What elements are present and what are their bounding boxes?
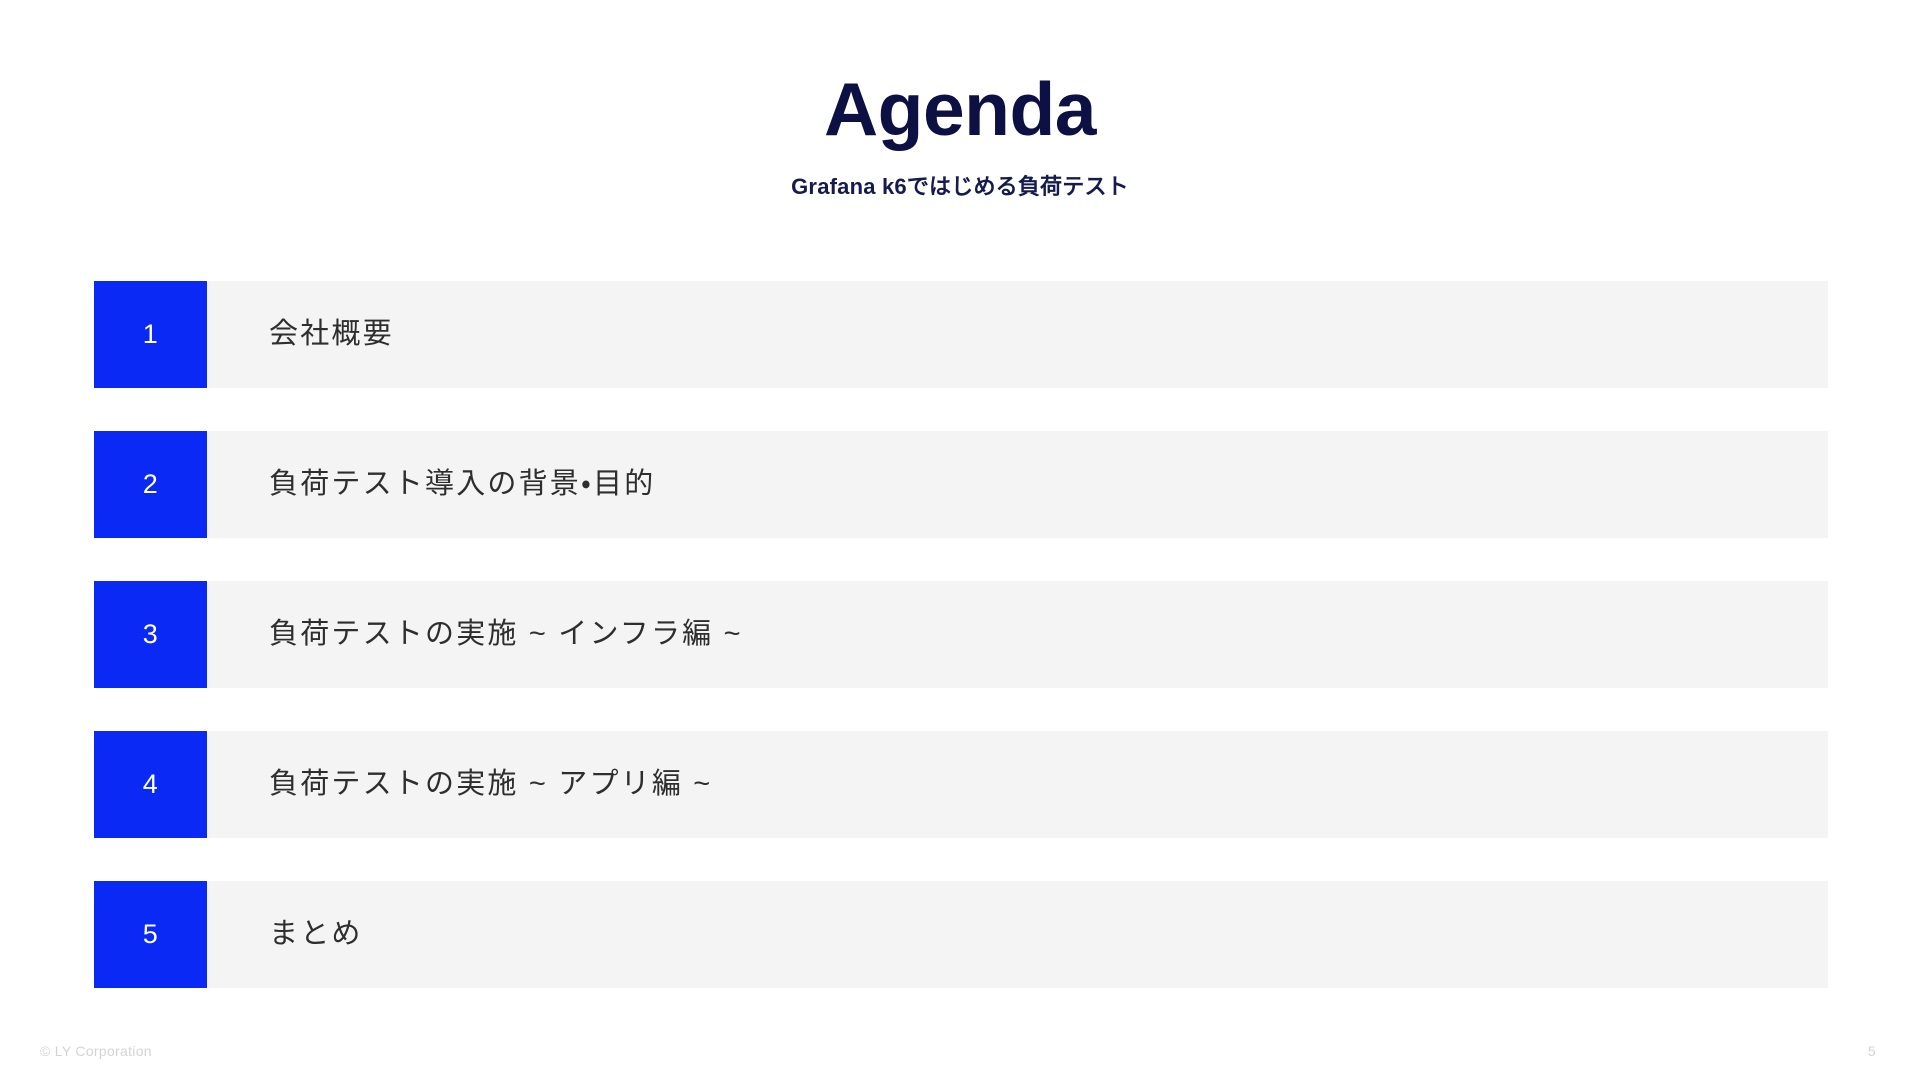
page-subtitle: Grafana k6ではじめる負荷テスト (0, 147, 1920, 200)
agenda-number-badge: 5 (94, 881, 207, 988)
agenda-item-5[interactable]: 5 まとめ (94, 881, 1828, 988)
agenda-item-4[interactable]: 4 負荷テストの実施 ~ アプリ編 ~ (94, 731, 1828, 838)
agenda-number-badge: 3 (94, 581, 207, 688)
agenda-item-1[interactable]: 1 会社概要 (94, 281, 1828, 388)
agenda-list: 1 会社概要 2 負荷テスト導入の背景・目的 3 負荷テストの実施 ~ インフラ… (94, 281, 1828, 988)
page-title: Agenda (0, 0, 1920, 147)
page-number: 5 (1868, 1044, 1876, 1058)
agenda-item-label: 会社概要 (207, 281, 1828, 388)
agenda-item-label: まとめ (207, 881, 1828, 988)
agenda-item-3[interactable]: 3 負荷テストの実施 ~ インフラ編 ~ (94, 581, 1828, 688)
agenda-item-label: 負荷テストの実施 ~ アプリ編 ~ (207, 731, 1828, 838)
copyright-notice: © LY Corporation (40, 1044, 152, 1058)
agenda-item-label: 負荷テスト導入の背景・目的 (207, 431, 1828, 538)
agenda-item-2[interactable]: 2 負荷テスト導入の背景・目的 (94, 431, 1828, 538)
agenda-number-badge: 4 (94, 731, 207, 838)
slide-header: Agenda Grafana k6ではじめる負荷テスト (0, 0, 1920, 200)
agenda-item-label: 負荷テストの実施 ~ インフラ編 ~ (207, 581, 1828, 688)
agenda-number-badge: 2 (94, 431, 207, 538)
agenda-number-badge: 1 (94, 281, 207, 388)
slide-footer: © LY Corporation 5 (0, 1020, 1920, 1080)
agenda-slide: Agenda Grafana k6ではじめる負荷テスト 1 会社概要 2 負荷テ… (0, 0, 1920, 1080)
